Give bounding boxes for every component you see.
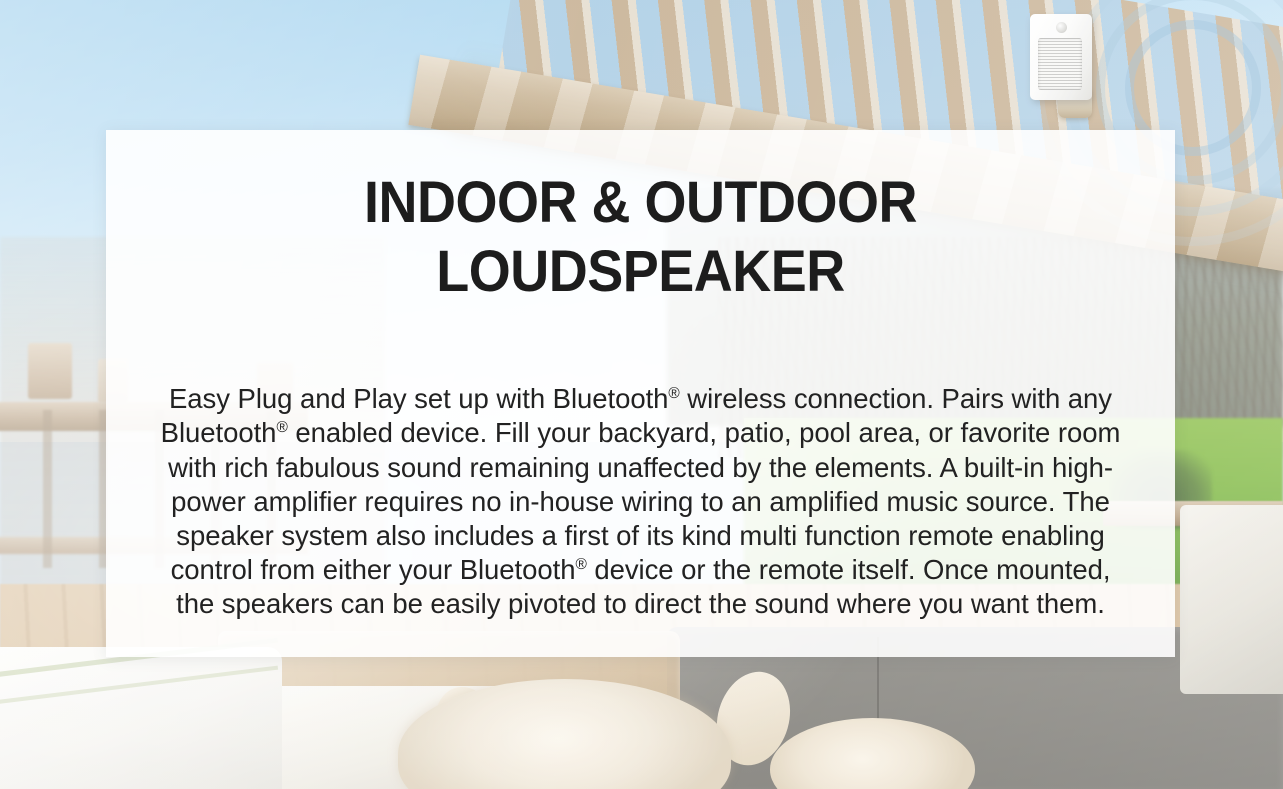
white-cushion-right	[1180, 505, 1283, 694]
speaker-tweeter-icon	[1056, 22, 1067, 33]
page-title: INDOOR & OUTDOOR LOUDSPEAKER	[194, 168, 1088, 306]
registered-trademark-symbol: ®	[575, 556, 586, 573]
loudspeaker	[1030, 14, 1092, 100]
registered-trademark-symbol: ®	[276, 419, 287, 436]
speaker-grille	[1038, 38, 1082, 90]
striped-pillow-left	[0, 647, 282, 789]
registered-trademark-symbol: ®	[668, 385, 679, 402]
promo-banner: INDOOR & OUTDOOR LOUDSPEAKER Easy Plug a…	[0, 0, 1283, 789]
product-description: Easy Plug and Play set up with Bluetooth…	[160, 382, 1121, 622]
lantern-icon	[28, 343, 72, 399]
content-panel: INDOOR & OUTDOOR LOUDSPEAKER Easy Plug a…	[106, 130, 1175, 657]
